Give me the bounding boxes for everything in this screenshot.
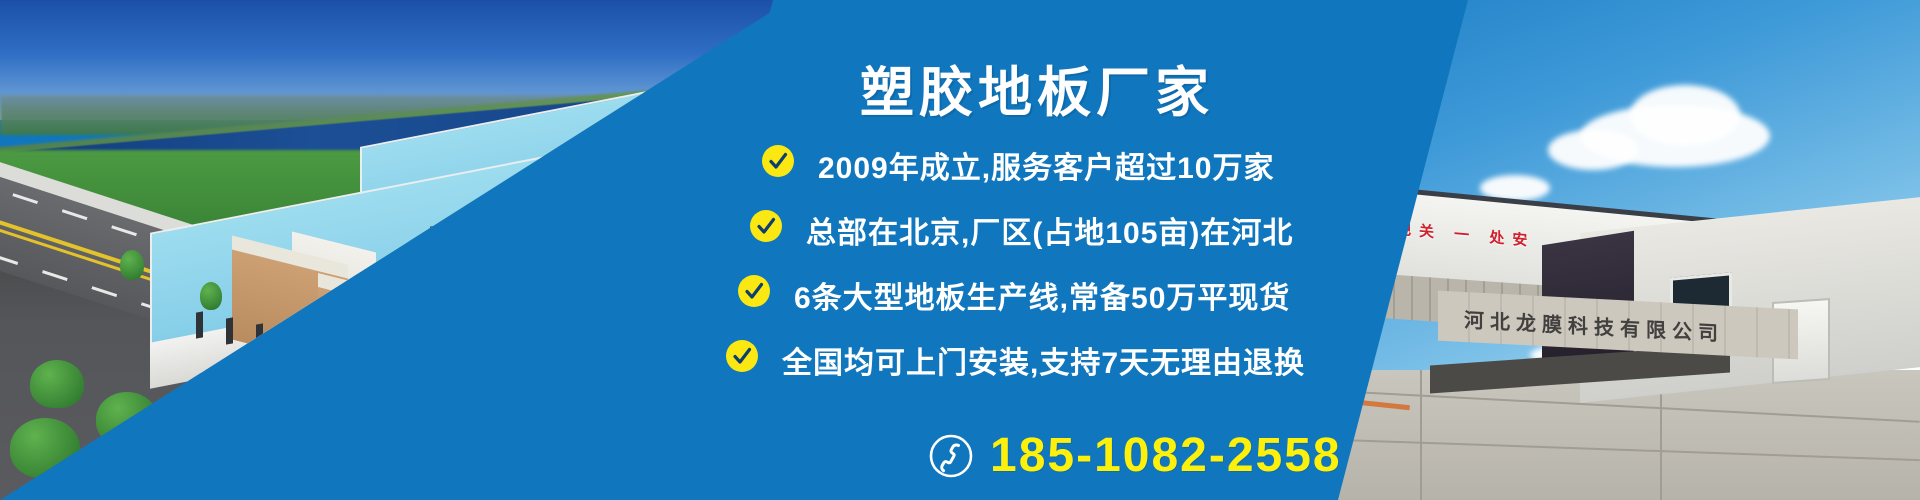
check-circle-icon xyxy=(738,275,770,307)
list-item: 全国均可上门安装,支持7天无理由退换 xyxy=(0,328,1920,393)
banner-content: 塑胶地板厂家 2009年成立,服务客户超过10万家 总部在北京,厂区(占地105… xyxy=(0,0,1920,500)
check-circle-icon xyxy=(726,340,758,372)
feature-text: 全国均可上门安装,支持7天无理由退换 xyxy=(782,338,1305,382)
promo-banner: 一人把关 一 处安 河北龙膜科技有限公司 塑胶地板厂家 xyxy=(0,0,1920,500)
check-circle-icon xyxy=(762,145,794,177)
check-circle-icon xyxy=(750,210,782,242)
banner-title: 塑胶地板厂家 xyxy=(860,48,1214,127)
feature-text: 2009年成立,服务客户超过10万家 xyxy=(818,143,1274,187)
feature-text: 6条大型地板生产线,常备50万平现货 xyxy=(794,273,1290,317)
feature-list: 2009年成立,服务客户超过10万家 总部在北京,厂区(占地105亩)在河北 6… xyxy=(0,133,1920,393)
contact-phone[interactable]: 185-1082-2558 xyxy=(928,428,1342,483)
phone-circle-icon xyxy=(928,433,974,479)
list-item: 6条大型地板生产线,常备50万平现货 xyxy=(0,263,1920,328)
list-item: 2009年成立,服务客户超过10万家 xyxy=(0,133,1920,198)
feature-text: 总部在北京,厂区(占地105亩)在河北 xyxy=(806,208,1293,252)
phone-number[interactable]: 185-1082-2558 xyxy=(990,428,1342,483)
list-item: 总部在北京,厂区(占地105亩)在河北 xyxy=(0,198,1920,263)
